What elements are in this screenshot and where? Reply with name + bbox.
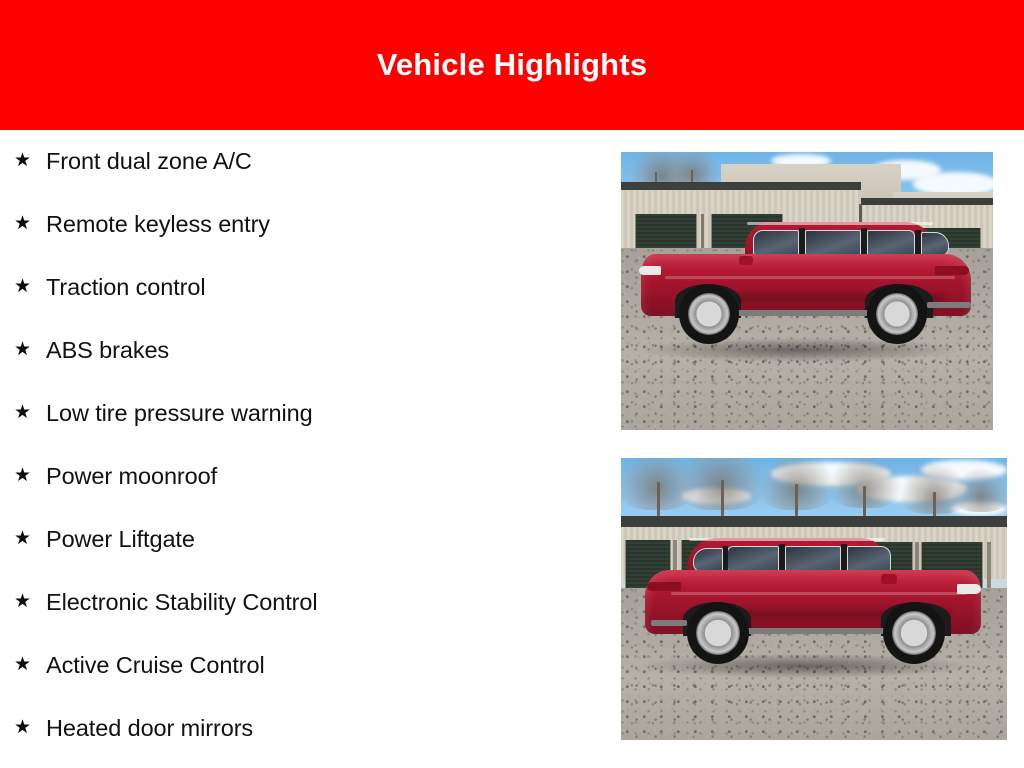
list-item: ★ Heated door mirrors — [0, 697, 600, 760]
feature-label: Remote keyless entry — [46, 211, 600, 238]
star-icon: ★ — [14, 277, 46, 296]
list-item: ★ Electronic Stability Control — [0, 571, 600, 634]
feature-label: Front dual zone A/C — [46, 148, 600, 175]
star-icon: ★ — [14, 529, 46, 548]
list-item: ★ ABS brakes — [0, 319, 600, 382]
star-icon: ★ — [14, 151, 46, 170]
star-icon: ★ — [14, 466, 46, 485]
list-item: ★ Low tire pressure warning — [0, 382, 600, 445]
feature-label: ABS brakes — [46, 337, 600, 364]
list-item: ★ Power moonroof — [0, 445, 600, 508]
vehicle-highlights-list: ★ Front dual zone A/C ★ Remote keyless e… — [0, 130, 600, 768]
feature-label: Active Cruise Control — [46, 652, 600, 679]
star-icon: ★ — [14, 592, 46, 611]
star-icon: ★ — [14, 403, 46, 422]
star-icon: ★ — [14, 655, 46, 674]
feature-label: Power moonroof — [46, 463, 600, 490]
vehicle-photo-driver-side — [621, 152, 993, 430]
list-item: ★ Power Liftgate — [0, 508, 600, 571]
list-item: ★ Front dual zone A/C — [0, 130, 600, 193]
vehicle-photo-passenger-side — [621, 458, 1007, 740]
page-title: Vehicle Highlights — [0, 0, 1024, 130]
feature-label: Traction control — [46, 274, 600, 301]
header-band: Vehicle Highlights — [0, 0, 1024, 130]
feature-label: Electronic Stability Control — [46, 589, 600, 616]
feature-label: Low tire pressure warning — [46, 400, 600, 427]
star-icon: ★ — [14, 340, 46, 359]
feature-label: Power Liftgate — [46, 526, 600, 553]
star-icon: ★ — [14, 214, 46, 233]
list-item: ★ Active Cruise Control — [0, 634, 600, 697]
feature-label: Heated door mirrors — [46, 715, 600, 742]
list-item: ★ Remote keyless entry — [0, 193, 600, 256]
star-icon: ★ — [14, 718, 46, 737]
vehicle-highlights-slide: Vehicle Highlights ★ Front dual zone A/C… — [0, 0, 1024, 768]
list-item: ★ Traction control — [0, 256, 600, 319]
